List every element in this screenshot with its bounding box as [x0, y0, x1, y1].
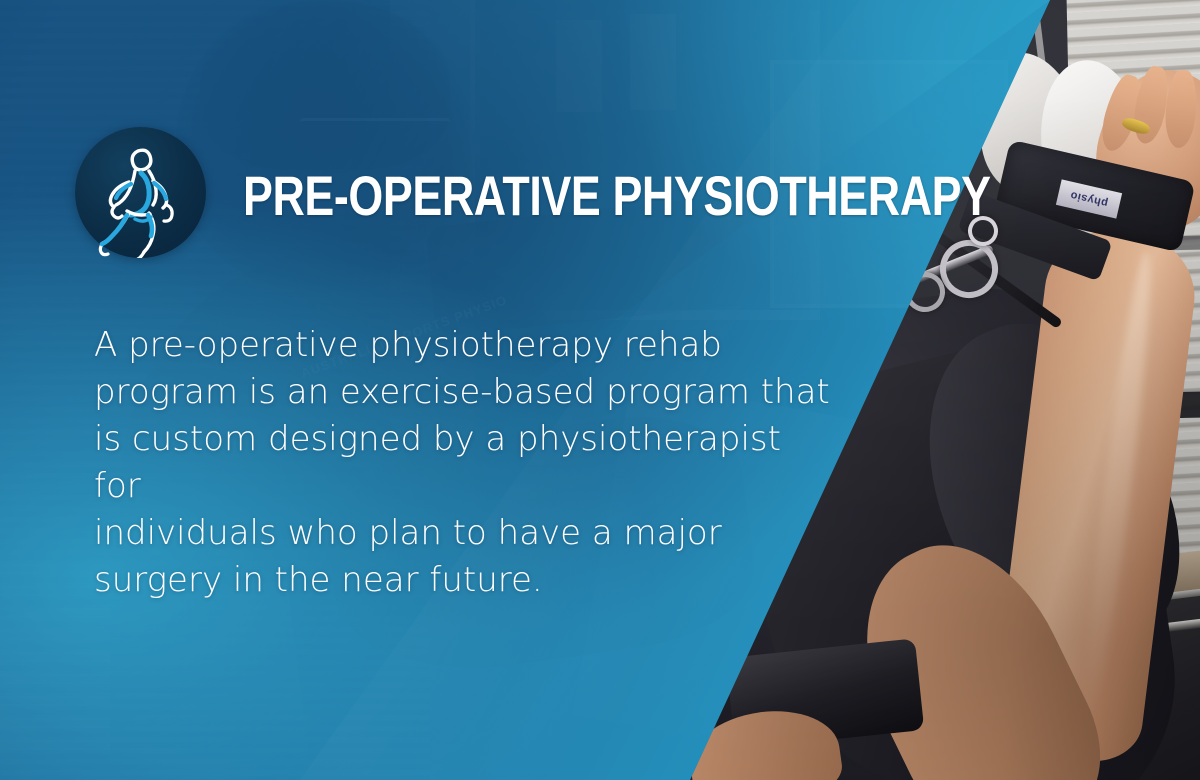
banner-content: PRE-OPERATIVE PHYSIOTHERAPY A pre-operat…: [0, 0, 1200, 780]
page-title: PRE-OPERATIVE PHYSIOTHERAPY: [243, 168, 991, 224]
body-paragraph-text: A pre-operative physiotherapy rehab prog…: [94, 322, 834, 604]
pre-operative-physiotherapy-banner: physio AUSTRALIAN SPO: [0, 0, 1200, 780]
running-man-logo: [75, 127, 206, 258]
title-text: PRE-OPERATIVE PHYSIOTHERAPY: [243, 164, 991, 227]
running-man-icon: [75, 127, 206, 258]
body-paragraph: A pre-operative physiotherapy rehab prog…: [94, 322, 834, 604]
